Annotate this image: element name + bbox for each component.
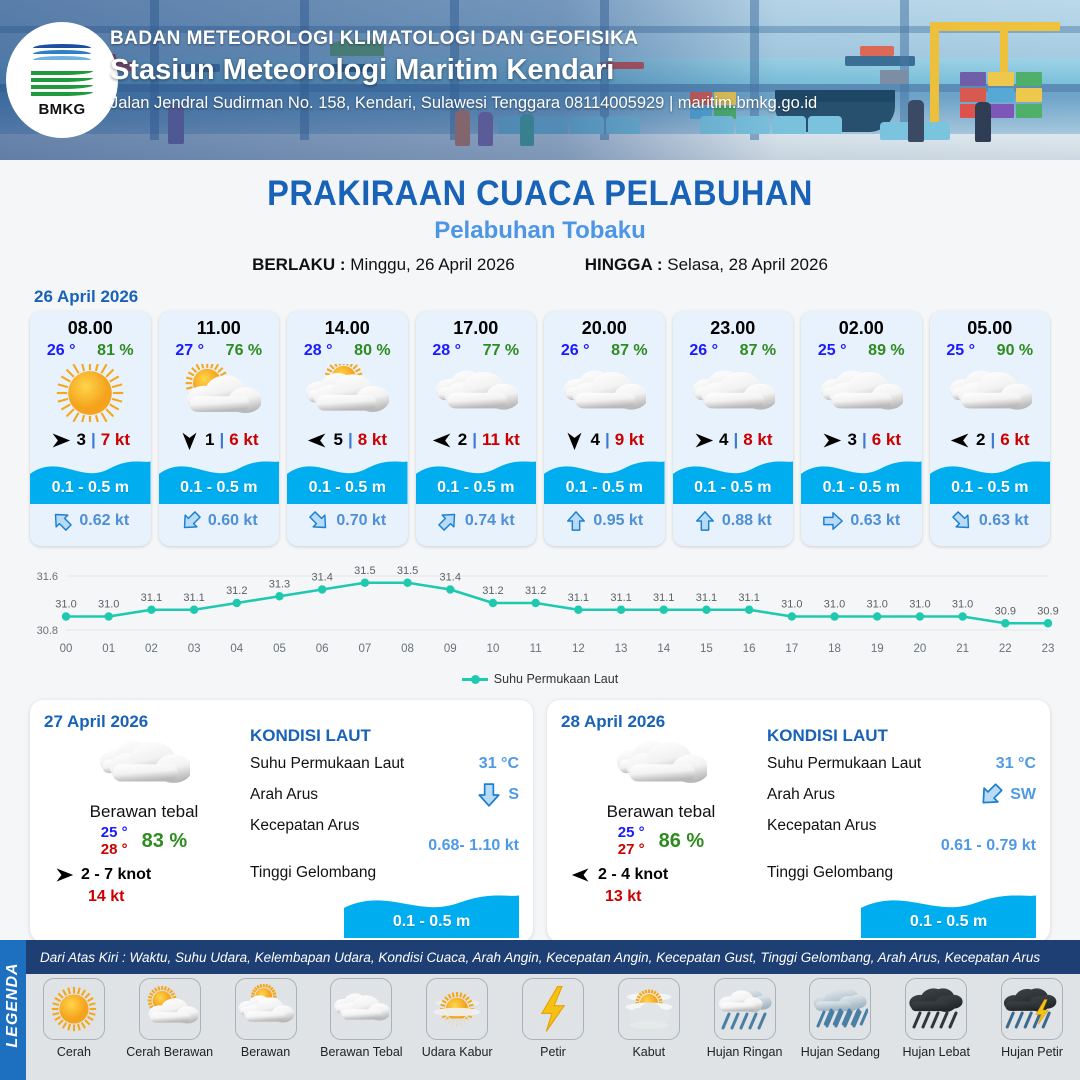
svg-text:19: 19 — [871, 643, 884, 655]
card-time: 20.00 — [544, 318, 665, 339]
legend-item-label: Berawan — [222, 1045, 310, 1059]
weather-cloudy-icon — [544, 362, 665, 424]
current-direction-arrow-icon — [476, 782, 502, 808]
card-time: 14.00 — [287, 318, 408, 339]
wave-height: 0.1 - 0.5 m — [287, 479, 408, 497]
current-direction-arrow-icon — [565, 510, 587, 532]
sea-row-label: Kecepatan Arus — [767, 817, 876, 835]
wind-speed: 4 — [590, 430, 599, 450]
svg-text:06: 06 — [316, 643, 329, 655]
svg-text:05: 05 — [273, 643, 286, 655]
weather-sunny-icon — [30, 362, 151, 424]
forecast-date-label: 26 April 2026 — [34, 287, 1080, 307]
weather-partly-cloudy-icon — [159, 362, 280, 424]
infographic-page: BMKG BADAN METEOROLOGI KLIMATOLOGI DAN G… — [0, 0, 1080, 1080]
legend-item: Hujan Lebat — [892, 978, 980, 1059]
card-current: 0.63 kt — [930, 504, 1051, 538]
card-current: 0.63 kt — [801, 504, 922, 538]
legend-item-label: Cerah — [30, 1045, 118, 1059]
legend-label: Suhu Permukaan Laut — [494, 672, 618, 686]
current-speed: 0.63 kt — [850, 512, 900, 530]
svg-text:31.5: 31.5 — [397, 565, 418, 577]
sea-row-label: Arah Arus — [767, 786, 835, 804]
sea-row: Arah Arus SW — [767, 782, 1036, 808]
card-time: 17.00 — [416, 318, 537, 339]
wind-speed: 3 — [847, 430, 856, 450]
svg-text:18: 18 — [828, 643, 841, 655]
legend-item-label: Cerah Berawan — [126, 1045, 214, 1059]
wind-direction-arrow-icon — [50, 430, 71, 451]
wave-height: 0.1 - 0.5 m — [344, 913, 519, 931]
valid-from: BERLAKU : Minggu, 26 April 2026 — [252, 255, 515, 275]
wind-speed: 2 — [976, 430, 985, 450]
svg-text:31.1: 31.1 — [568, 592, 589, 604]
card-temperature: 28 ° — [304, 342, 333, 360]
wave-height: 0.1 - 0.5 m — [159, 479, 280, 497]
card-temperature: 26 ° — [689, 342, 718, 360]
svg-text:16: 16 — [743, 643, 756, 655]
day-wave: 0.1 - 0.5 m — [861, 884, 1036, 938]
legend-footer: LEGENDA Dari Atas Kiri : Waktu, Suhu Uda… — [0, 940, 1080, 1080]
svg-text:31.0: 31.0 — [867, 599, 888, 611]
weather-cloudy-sun-icon — [235, 978, 297, 1040]
card-wave: 0.1 - 0.5 m — [30, 452, 151, 504]
day-forecast-panel: 27 April 2026 Berawan tebal 25 ° 28 ° 83… — [30, 700, 533, 942]
svg-text:03: 03 — [188, 643, 201, 655]
wind-separator: | — [219, 430, 224, 450]
forecast-card: 17.00 28 ° 77 % 2 | 11 kt 0.1 - 0.5 m — [416, 311, 537, 546]
legend-side-title: LEGENDA — [4, 955, 22, 1055]
card-wave: 0.1 - 0.5 m — [673, 452, 794, 504]
forecast-card: 14.00 28 ° 80 % 5 | 8 kt 0.1 - 0.5 m — [287, 311, 408, 546]
wind-speed: 2 — [458, 430, 467, 450]
current-direction-value: S — [476, 782, 519, 808]
wind-direction-arrow-icon — [307, 430, 328, 451]
weather-fog-icon — [618, 978, 680, 1040]
svg-text:12: 12 — [572, 643, 585, 655]
sea-row-label: Arah Arus — [250, 786, 318, 804]
weather-cloudy-thick-icon — [44, 736, 244, 794]
wave-height: 0.1 - 0.5 m — [673, 479, 794, 497]
current-direction-arrow-icon — [308, 510, 330, 532]
legend-item: Hujan Petir — [988, 978, 1076, 1059]
sea-row-label: Suhu Permukaan Laut — [767, 755, 921, 773]
legend-side-bar: LEGENDA — [0, 940, 26, 1080]
day-summary: 27 April 2026 Berawan tebal 25 ° 28 ° 83… — [44, 712, 244, 930]
sea-row-label: Tinggi Gelombang — [250, 864, 376, 882]
weather-rain-light-icon — [714, 978, 776, 1040]
current-direction-text: S — [508, 786, 519, 804]
wind-gust: 6 kt — [1000, 430, 1029, 450]
card-current: 0.62 kt — [30, 504, 151, 538]
day-forecast-panel: 28 April 2026 Berawan tebal 25 ° 27 ° 86… — [547, 700, 1050, 942]
wave-height: 0.1 - 0.5 m — [544, 479, 665, 497]
svg-text:31.0: 31.0 — [98, 599, 119, 611]
day-sea-conditions: KONDISI LAUT Suhu Permukaan Laut 31 °C A… — [761, 712, 1036, 930]
wind-gust: 6 kt — [229, 430, 258, 450]
day-wind-range: 2 - 7 knot — [81, 866, 151, 884]
wave-height: 0.1 - 0.5 m — [801, 479, 922, 497]
card-wind: 1 | 6 kt — [159, 428, 280, 452]
title-block: PRAKIRAAN CUACA PELABUHAN Pelabuhan Toba… — [0, 174, 1080, 275]
valid-from-label: BERLAKU : — [252, 255, 346, 274]
current-speed: 0.60 kt — [208, 512, 258, 530]
card-humidity: 90 % — [997, 342, 1033, 360]
weather-partly-cloudy-icon — [139, 978, 201, 1040]
current-direction-text: SW — [1010, 786, 1036, 804]
svg-text:31.2: 31.2 — [525, 585, 546, 597]
legend-item-label: Hujan Ringan — [701, 1045, 789, 1059]
card-humidity: 89 % — [868, 342, 904, 360]
svg-text:31.0: 31.0 — [952, 599, 973, 611]
wind-direction-arrow-icon — [564, 430, 585, 451]
current-direction-value: SW — [978, 782, 1036, 808]
svg-text:31.4: 31.4 — [440, 572, 461, 584]
station-address: Jalan Jendral Sudirman No. 158, Kendari,… — [110, 94, 817, 113]
wind-gust: 6 kt — [872, 430, 901, 450]
sea-row: Kecepatan Arus — [250, 817, 519, 835]
wind-gust: 11 kt — [482, 430, 520, 450]
forecast-cards: 08.00 26 ° 81 % 3 | 7 kt 0.1 - 0.5 m 0.6… — [0, 311, 1080, 546]
day-wind-gust: 14 kt — [44, 888, 244, 906]
current-speed: 0.62 kt — [79, 512, 129, 530]
day-humidity: 86 % — [659, 830, 705, 853]
card-wind: 3 | 6 kt — [801, 428, 922, 452]
forecast-card: 11.00 27 ° 76 % 1 | 6 kt 0.1 - 0.5 m 0.6… — [159, 311, 280, 546]
card-temperature: 26 ° — [47, 342, 76, 360]
weather-cloudy-icon — [673, 362, 794, 424]
card-temp-humidity: 26 ° 87 % — [544, 342, 665, 360]
current-speed: 0.70 kt — [336, 512, 386, 530]
forecast-card: 23.00 26 ° 87 % 4 | 8 kt 0.1 - 0.5 m — [673, 311, 794, 546]
weather-cloudy-thick-icon — [561, 736, 761, 794]
card-current: 0.88 kt — [673, 504, 794, 538]
sea-conditions-title: KONDISI LAUT — [250, 726, 519, 746]
wind-separator: | — [990, 430, 995, 450]
legend-item-label: Hujan Lebat — [892, 1045, 980, 1059]
card-current: 0.70 kt — [287, 504, 408, 538]
current-direction-arrow-icon — [694, 510, 716, 532]
legend-item: Cerah Berawan — [126, 978, 214, 1059]
current-speed: 0.68- 1.10 kt — [250, 837, 519, 855]
legend-item: Cerah — [30, 978, 118, 1059]
day-temp-min: 25 ° — [618, 824, 645, 841]
weather-cloudy-icon — [416, 362, 537, 424]
current-speed: 0.63 kt — [979, 512, 1029, 530]
current-direction-arrow-icon — [822, 510, 844, 532]
sea-row: Tinggi Gelombang — [767, 864, 1036, 882]
svg-text:31.4: 31.4 — [311, 572, 332, 584]
wave-height: 0.1 - 0.5 m — [930, 479, 1051, 497]
svg-text:13: 13 — [615, 643, 628, 655]
card-current: 0.95 kt — [544, 504, 665, 538]
forecast-card: 05.00 25 ° 90 % 2 | 6 kt 0.1 - 0.5 m — [930, 311, 1051, 546]
sea-row: Arah Arus S — [250, 782, 519, 808]
day-temp-range: 25 ° 28 ° — [101, 824, 128, 858]
card-humidity: 81 % — [97, 342, 133, 360]
current-speed: 0.74 kt — [465, 512, 515, 530]
svg-text:31.2: 31.2 — [482, 585, 503, 597]
legend-note-bar: Dari Atas Kiri : Waktu, Suhu Udara, Kele… — [26, 940, 1080, 974]
page-subtitle: Pelabuhan Tobaku — [0, 217, 1080, 245]
legend-item-label: Petir — [509, 1045, 597, 1059]
legend-item-label: Hujan Sedang — [796, 1045, 884, 1059]
wind-separator: | — [605, 430, 610, 450]
card-humidity: 77 % — [483, 342, 519, 360]
sea-row: Kecepatan Arus — [767, 817, 1036, 835]
legend-item: Petir — [509, 978, 597, 1059]
current-speed: 0.61 - 0.79 kt — [767, 837, 1036, 855]
wind-speed: 1 — [205, 430, 214, 450]
card-temperature: 28 ° — [432, 342, 461, 360]
weather-cloudy-icon — [801, 362, 922, 424]
card-temp-humidity: 27 ° 76 % — [159, 342, 280, 360]
card-humidity: 80 % — [354, 342, 390, 360]
wind-direction-arrow-icon — [432, 430, 453, 451]
svg-text:31.1: 31.1 — [738, 592, 759, 604]
day-sea-conditions: KONDISI LAUT Suhu Permukaan Laut 31 °C A… — [244, 712, 519, 930]
header-text-block: BADAN METEOROLOGI KLIMATOLOGI DAN GEOFIS… — [110, 28, 817, 113]
svg-text:00: 00 — [60, 643, 73, 655]
legend-item: Berawan — [222, 978, 310, 1059]
card-wind: 4 | 9 kt — [544, 428, 665, 452]
wind-separator: | — [733, 430, 738, 450]
bmkg-logo: BMKG — [6, 22, 118, 138]
legend-item-label: Udara Kabur — [413, 1045, 501, 1059]
card-temp-humidity: 28 ° 77 % — [416, 342, 537, 360]
day-temp-range: 25 ° 27 ° — [618, 824, 645, 858]
svg-text:31.0: 31.0 — [55, 599, 76, 611]
svg-text:10: 10 — [487, 643, 500, 655]
card-temp-humidity: 26 ° 81 % — [30, 342, 151, 360]
legend-item-label: Kabut — [605, 1045, 693, 1059]
card-wave: 0.1 - 0.5 m — [159, 452, 280, 504]
card-time: 02.00 — [801, 318, 922, 339]
day-temp-humidity: 25 ° 27 ° 86 % — [561, 824, 761, 858]
wind-gust: 8 kt — [358, 430, 387, 450]
wind-direction-arrow-icon — [693, 430, 714, 451]
legend-item: Kabut — [605, 978, 693, 1059]
wind-separator: | — [472, 430, 477, 450]
forecast-card: 02.00 25 ° 89 % 3 | 6 kt 0.1 - 0.5 m — [801, 311, 922, 546]
logo-arcs-icon — [33, 42, 91, 68]
svg-text:01: 01 — [102, 643, 115, 655]
valid-to-label: HINGGA : — [585, 255, 663, 274]
sea-row: Tinggi Gelombang — [250, 864, 519, 882]
current-direction-arrow-icon — [51, 510, 73, 532]
svg-text:31.1: 31.1 — [141, 592, 162, 604]
sst-chart-svg: 31.630.831.00031.00131.10231.10331.20431… — [18, 560, 1062, 668]
weather-cloudy-icon — [330, 978, 392, 1040]
day-humidity: 83 % — [142, 830, 188, 853]
day-wind: 2 - 7 knot — [44, 865, 244, 885]
legend-note: Dari Atas Kiri : Waktu, Suhu Udara, Kele… — [26, 950, 1040, 965]
card-temp-humidity: 28 ° 80 % — [287, 342, 408, 360]
wind-speed: 5 — [333, 430, 342, 450]
sea-row: Suhu Permukaan Laut 31 °C — [250, 755, 519, 773]
legend-item: Hujan Sedang — [796, 978, 884, 1059]
agency-name: BADAN METEOROLOGI KLIMATOLOGI DAN GEOFIS… — [110, 28, 817, 50]
sea-row-label: Tinggi Gelombang — [767, 864, 893, 882]
legend-icon-list: Cerah Cerah Berawan Berawan — [26, 978, 1080, 1059]
current-direction-arrow-icon — [180, 510, 202, 532]
station-name: Stasiun Meteorologi Maritim Kendari — [110, 54, 817, 87]
wind-direction-arrow-icon — [54, 865, 74, 885]
card-wave: 0.1 - 0.5 m — [544, 452, 665, 504]
svg-text:30.8: 30.8 — [37, 625, 58, 637]
card-temperature: 27 ° — [175, 342, 204, 360]
current-direction-arrow-icon — [978, 782, 1004, 808]
valid-to-value: Selasa, 28 April 2026 — [667, 255, 828, 274]
weather-sunny-icon — [43, 978, 105, 1040]
svg-text:09: 09 — [444, 643, 457, 655]
card-wind: 3 | 7 kt — [30, 428, 151, 452]
sst-chart: 31.630.831.00031.00131.10231.10331.20431… — [18, 560, 1062, 670]
svg-text:31.5: 31.5 — [354, 565, 375, 577]
day-temp-max: 27 ° — [618, 841, 645, 858]
weather-rain-heavy-icon — [905, 978, 967, 1040]
card-time: 08.00 — [30, 318, 151, 339]
weather-cloudy-sun-icon — [287, 362, 408, 424]
day-wind: 2 - 4 knot — [561, 865, 761, 885]
card-time: 05.00 — [930, 318, 1051, 339]
wind-separator: | — [862, 430, 867, 450]
card-current: 0.60 kt — [159, 504, 280, 538]
svg-text:31.1: 31.1 — [653, 592, 674, 604]
card-wave: 0.1 - 0.5 m — [930, 452, 1051, 504]
svg-text:31.0: 31.0 — [781, 599, 802, 611]
weather-haze-icon — [426, 978, 488, 1040]
validity-row: BERLAKU : Minggu, 26 April 2026 HINGGA :… — [0, 255, 1080, 275]
card-humidity: 87 % — [740, 342, 776, 360]
weather-rain-moderate-icon — [809, 978, 871, 1040]
svg-text:11: 11 — [530, 643, 542, 655]
page-title: PRAKIRAAN CUACA PELABUHAN — [38, 174, 1042, 214]
current-direction-arrow-icon — [951, 510, 973, 532]
page-header: BMKG BADAN METEOROLOGI KLIMATOLOGI DAN G… — [0, 0, 1080, 160]
wind-speed: 4 — [719, 430, 728, 450]
card-humidity: 87 % — [611, 342, 647, 360]
day-date: 28 April 2026 — [561, 712, 761, 732]
day-wind-range: 2 - 4 knot — [598, 866, 668, 884]
wind-direction-arrow-icon — [571, 865, 591, 885]
sea-row: Suhu Permukaan Laut 31 °C — [767, 755, 1036, 773]
legend-item: Hujan Ringan — [701, 978, 789, 1059]
svg-text:30.9: 30.9 — [1037, 605, 1058, 617]
legend-item-label: Hujan Petir — [988, 1045, 1076, 1059]
current-speed: 0.95 kt — [593, 512, 643, 530]
card-temp-humidity: 26 ° 87 % — [673, 342, 794, 360]
current-speed: 0.88 kt — [722, 512, 772, 530]
svg-text:07: 07 — [358, 643, 371, 655]
card-wind: 2 | 11 kt — [416, 428, 537, 452]
wind-gust: 7 kt — [101, 430, 130, 450]
card-wind: 4 | 8 kt — [673, 428, 794, 452]
day-wind-gust: 13 kt — [561, 888, 761, 906]
wind-direction-arrow-icon — [179, 430, 200, 451]
svg-text:23: 23 — [1042, 643, 1055, 655]
card-wave: 0.1 - 0.5 m — [416, 452, 537, 504]
wind-direction-arrow-icon — [950, 430, 971, 451]
wave-height: 0.1 - 0.5 m — [416, 479, 537, 497]
chart-legend: Suhu Permukaan Laut — [0, 672, 1080, 686]
day-condition: Berawan tebal — [561, 802, 761, 822]
card-wind: 2 | 6 kt — [930, 428, 1051, 452]
card-wave: 0.1 - 0.5 m — [801, 452, 922, 504]
svg-text:21: 21 — [956, 643, 969, 655]
svg-text:02: 02 — [145, 643, 158, 655]
card-temp-humidity: 25 ° 89 % — [801, 342, 922, 360]
current-direction-arrow-icon — [437, 510, 459, 532]
day-temp-humidity: 25 ° 28 ° 83 % — [44, 824, 244, 858]
day-summary: 28 April 2026 Berawan tebal 25 ° 27 ° 86… — [561, 712, 761, 930]
svg-text:31.0: 31.0 — [824, 599, 845, 611]
card-time: 23.00 — [673, 318, 794, 339]
wind-separator: | — [91, 430, 96, 450]
day-wave: 0.1 - 0.5 m — [344, 884, 519, 938]
legend-item: Udara Kabur — [413, 978, 501, 1059]
legend-line-marker-icon — [462, 678, 488, 681]
svg-text:30.9: 30.9 — [995, 605, 1016, 617]
card-current: 0.74 kt — [416, 504, 537, 538]
svg-text:31.2: 31.2 — [226, 585, 247, 597]
day-panels: 27 April 2026 Berawan tebal 25 ° 28 ° 83… — [0, 700, 1080, 942]
wind-speed: 3 — [76, 430, 85, 450]
sea-row-label: Suhu Permukaan Laut — [250, 755, 404, 773]
svg-text:31.1: 31.1 — [610, 592, 631, 604]
wave-height: 0.1 - 0.5 m — [30, 479, 151, 497]
sea-surface-temperature: 31 °C — [996, 755, 1036, 773]
card-temperature: 25 ° — [946, 342, 975, 360]
svg-text:31.6: 31.6 — [37, 571, 58, 583]
svg-text:08: 08 — [401, 643, 414, 655]
card-time: 11.00 — [159, 318, 280, 339]
wind-direction-arrow-icon — [821, 430, 842, 451]
svg-text:22: 22 — [999, 643, 1012, 655]
svg-text:14: 14 — [657, 643, 670, 655]
card-wind: 5 | 8 kt — [287, 428, 408, 452]
svg-text:17: 17 — [785, 643, 798, 655]
day-temp-min: 25 ° — [101, 824, 128, 841]
svg-text:31.1: 31.1 — [696, 592, 717, 604]
wind-separator: | — [348, 430, 353, 450]
logo-text: BMKG — [38, 101, 85, 118]
forecast-card: 08.00 26 ° 81 % 3 | 7 kt 0.1 - 0.5 m 0.6… — [30, 311, 151, 546]
weather-rain-thunder-icon — [1001, 978, 1063, 1040]
svg-text:31.0: 31.0 — [909, 599, 930, 611]
wind-gust: 8 kt — [743, 430, 772, 450]
card-temp-humidity: 25 ° 90 % — [930, 342, 1051, 360]
day-condition: Berawan tebal — [44, 802, 244, 822]
card-wave: 0.1 - 0.5 m — [287, 452, 408, 504]
card-temperature: 25 ° — [818, 342, 847, 360]
sea-row-label: Kecepatan Arus — [250, 817, 359, 835]
legend-item: Berawan Tebal — [317, 978, 405, 1059]
day-temp-max: 28 ° — [101, 841, 128, 858]
card-humidity: 76 % — [226, 342, 262, 360]
svg-text:31.1: 31.1 — [183, 592, 204, 604]
wave-height: 0.1 - 0.5 m — [861, 913, 1036, 931]
wind-gust: 9 kt — [615, 430, 644, 450]
forecast-card: 20.00 26 ° 87 % 4 | 9 kt 0.1 - 0.5 m — [544, 311, 665, 546]
svg-text:20: 20 — [914, 643, 927, 655]
day-date: 27 April 2026 — [44, 712, 244, 732]
valid-from-value: Minggu, 26 April 2026 — [350, 255, 514, 274]
weather-lightning-icon — [522, 978, 584, 1040]
sea-surface-temperature: 31 °C — [479, 755, 519, 773]
svg-text:31.3: 31.3 — [269, 578, 290, 590]
sea-conditions-title: KONDISI LAUT — [767, 726, 1036, 746]
